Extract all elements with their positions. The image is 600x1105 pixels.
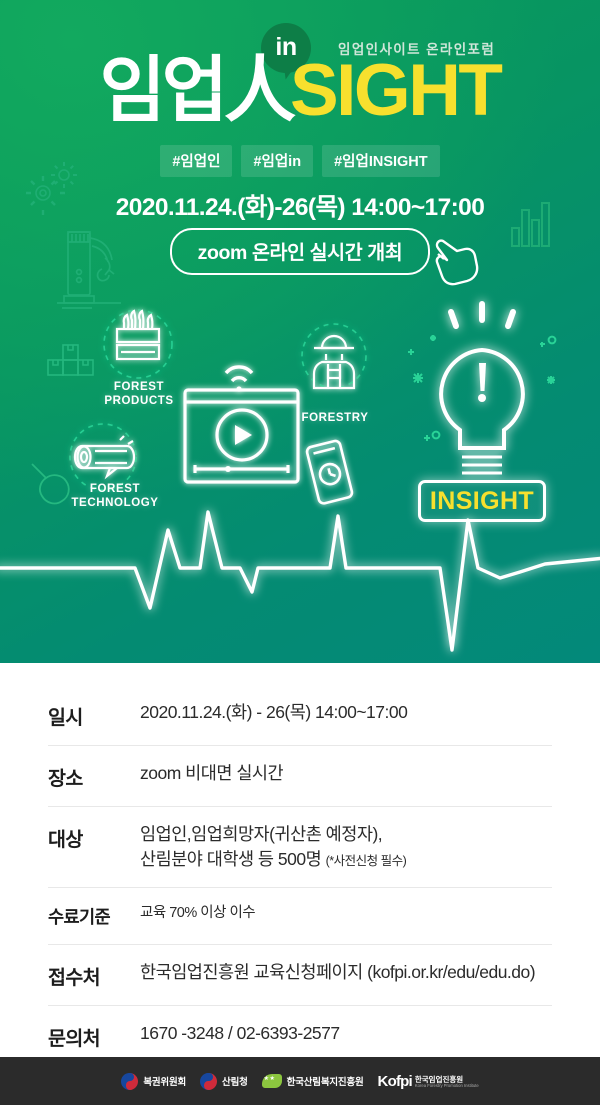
table-row: 장소 zoom 비대면 실시간 (48, 746, 552, 807)
logo-lottery-commission: 복권위원회 (121, 1073, 186, 1090)
hand-pointer-icon (424, 232, 484, 290)
kofpi-wordmark: Kofpi (378, 1074, 412, 1089)
logo-kofpi: Kofpi 한국임업진흥원 Korea Forestry Promotion I… (378, 1074, 479, 1089)
taegeuk-icon (121, 1073, 138, 1090)
table-row: 대상 임업인,임업희망자(귀산촌 예정자), 산림분야 대학생 등 500명 (… (48, 807, 552, 888)
logo-label: 복권위원회 (143, 1074, 186, 1088)
event-date-line: 2020.11.24.(화)-26(목) 14:00~17:00 (0, 188, 600, 223)
table-row: 일시 2020.11.24.(화) - 26(목) 14:00~17:00 (48, 685, 552, 746)
taegeuk-icon (200, 1073, 217, 1090)
table-row: 수료기준 교육 70% 이상 이수 (48, 888, 552, 945)
row-label: 일시 (48, 700, 140, 730)
forestry-icon (302, 324, 366, 388)
row-value-line1: 임업인,임업희망자(귀산촌 예정자), (140, 822, 406, 847)
label-forest-technology: FOREST TECHNOLOGY (60, 483, 170, 510)
row-label: 접수처 (48, 960, 140, 990)
row-label: 장소 (48, 761, 140, 791)
logo-korea-forest-service: 산림청 (200, 1073, 248, 1090)
hero-section: in 임업인사이트 온라인포럼 임업人 SIGHT #임업인 #임업in #임업… (0, 0, 600, 663)
event-poster: in 임업인사이트 온라인포럼 임업人 SIGHT #임업인 #임업in #임업… (0, 0, 600, 1105)
row-value-line2: 산림분야 대학생 등 500명 (140, 849, 321, 869)
row-value: 1670 -3248 / 02-6393-2577 (140, 1021, 340, 1046)
stacked-boxes-icon (48, 345, 93, 375)
hashtag-item[interactable]: #임업in (241, 145, 313, 177)
kofpi-korean-label: 한국임업진흥원 (415, 1076, 479, 1084)
ekg-pulse-line (0, 512, 600, 650)
wifi-icon (226, 367, 252, 392)
hashtag-item[interactable]: #임업INSIGHT (322, 145, 440, 177)
logo-label: 한국산림복지진흥원 (287, 1074, 364, 1088)
zoom-pill-wrap: zoom 온라인 실시간 개최 (0, 228, 600, 275)
table-row: 접수처 한국임업진흥원 교육신청페이지 (kofpi.or.kr/edu/edu… (48, 945, 552, 1006)
event-details-table: 일시 2020.11.24.(화) - 26(목) 14:00~17:00 장소… (0, 663, 600, 1057)
title-korean: 임업人 (99, 56, 291, 124)
video-player-icon (185, 390, 298, 482)
row-value: 임업인,임업희망자(귀산촌 예정자), 산림분야 대학생 등 500명 (*사전… (140, 822, 406, 872)
label-forest-products: FOREST PRODUCTS (95, 381, 183, 408)
insight-badge-label: INSIGHT (430, 487, 534, 516)
mobile-clock-icon (306, 440, 353, 505)
forest-technology-icon (70, 424, 136, 490)
row-label: 문의처 (48, 1021, 140, 1051)
row-value: 교육 70% 이상 이수 (140, 903, 255, 924)
logo-forest-welfare-institute: 한국산림복지진흥원 (262, 1074, 364, 1088)
row-value: 2020.11.24.(화) - 26(목) 14:00~17:00 (140, 700, 407, 725)
lightbulb-icon (441, 304, 523, 473)
row-value[interactable]: 한국임업진흥원 교육신청페이지 (kofpi.or.kr/edu/edu.do) (140, 960, 535, 985)
hashtag-item[interactable]: #임업인 (160, 145, 232, 177)
sponsor-footer: 복권위원회 산림청 한국산림복지진흥원 Kofpi 한국임업진흥원 Korea … (0, 1057, 600, 1105)
forest-products-icon (104, 310, 172, 378)
zoom-online-badge[interactable]: zoom 온라인 실시간 개최 (170, 228, 431, 275)
title-english: SIGHT (290, 56, 501, 125)
insight-badge: INSIGHT (418, 480, 546, 522)
kofpi-english-label: Korea Forestry Promotion Institute (415, 1084, 479, 1088)
hashtag-row: #임업인 #임업in #임업INSIGHT (0, 145, 600, 177)
leaf-icon (262, 1074, 282, 1088)
logo-label: 산림청 (222, 1074, 248, 1088)
row-value: zoom 비대면 실시간 (140, 761, 283, 786)
label-forestry: FORESTRY (300, 412, 370, 426)
row-value-note: (*사전신청 필수) (326, 854, 407, 868)
row-label: 수료기준 (48, 903, 140, 929)
row-label: 대상 (48, 822, 140, 852)
main-title: 임업人 SIGHT (0, 56, 600, 125)
